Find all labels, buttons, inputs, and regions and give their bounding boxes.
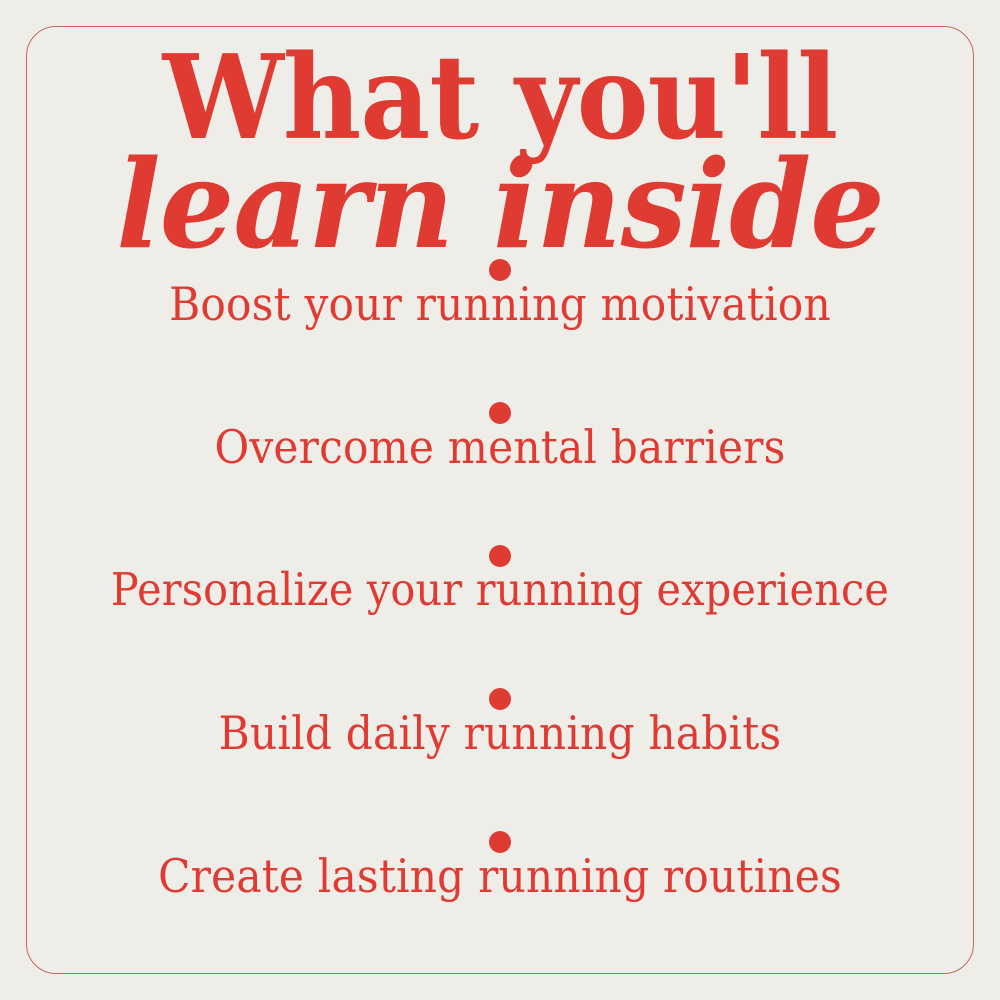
benefit-item-5: Create lasting running routines [0,822,1000,965]
benefit-item-1: Boost your running motivation [0,250,1000,393]
page-title: What you'll learn inside [0,44,1000,262]
benefit-item-label: Boost your running motivation [40,280,960,330]
benefit-item-3: Personalize your running experience [0,536,1000,679]
benefit-item-4: Build daily running habits [0,679,1000,822]
card-content: What you'll learn inside Boost your runn… [0,0,1000,1000]
benefit-list: Boost your running motivation Overcome m… [0,250,1000,965]
page-title-line-2: learn inside [20,147,980,262]
benefit-item-2: Overcome mental barriers [0,393,1000,536]
benefit-item-label: Create lasting running routines [40,852,960,902]
benefit-item-label: Build daily running habits [40,709,960,759]
benefit-item-label: Personalize your running experience [40,566,960,615]
benefit-item-label: Overcome mental barriers [40,423,960,473]
promo-card: What you'll learn inside Boost your runn… [0,0,1000,1000]
